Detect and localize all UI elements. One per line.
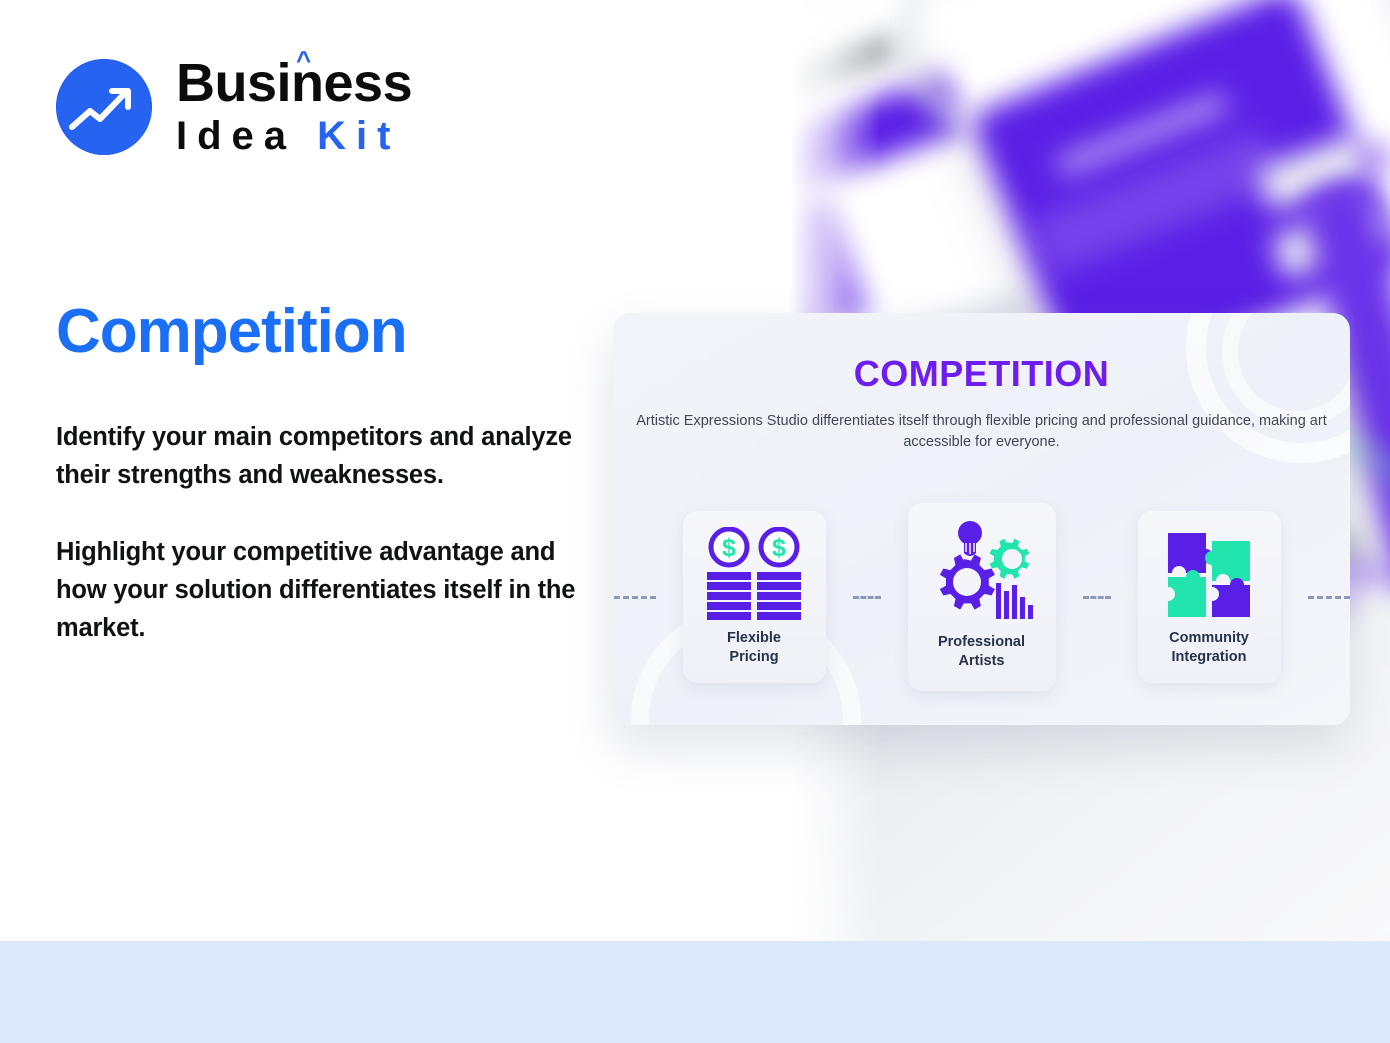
svg-text:$: $ xyxy=(722,534,736,562)
body-copy: Identify your main competitors and analy… xyxy=(56,418,576,647)
brand-name-line2: Idea Kit xyxy=(176,114,412,158)
tile-label-line1: Community xyxy=(1169,630,1249,646)
feature-tile-label: Flexible Pricing xyxy=(727,629,781,667)
preview-subtitle: Artistic Expressions Studio differentiat… xyxy=(613,411,1350,453)
bottom-color-band xyxy=(0,941,1390,1043)
photo-dot-one xyxy=(1365,145,1390,171)
tile-label-line2: Integration xyxy=(1172,649,1247,665)
brand-kit-text: Kit xyxy=(317,114,400,158)
brand-name-text: Business xyxy=(176,53,412,113)
brand-idea-text: Idea xyxy=(176,114,317,158)
gears-lightbulb-chart-icon xyxy=(926,517,1038,629)
feature-tile-label: Community Integration xyxy=(1169,629,1249,667)
connector-dash-left xyxy=(613,596,656,599)
brand-wordmark: Business ^ Idea Kit xyxy=(176,56,412,158)
tile-label-line1: Flexible xyxy=(727,630,781,646)
connector-dash-right xyxy=(1308,596,1351,599)
connector-dash-mid-left xyxy=(853,596,881,599)
tile-label-line2: Pricing xyxy=(729,649,778,665)
competition-preview-card: COMPETITION Artistic Expressions Studio … xyxy=(613,313,1350,725)
connector-dash-mid-right xyxy=(1083,596,1111,599)
tile-label-line2: Artists xyxy=(959,653,1005,669)
body-paragraph-1: Identify your main competitors and analy… xyxy=(56,418,576,495)
feature-tile-community-integration[interactable]: Community Integration xyxy=(1138,511,1281,683)
brand-logo: Business ^ Idea Kit xyxy=(56,56,412,158)
preview-title: COMPETITION xyxy=(613,353,1350,395)
feature-tile-row: $ $ xyxy=(613,503,1350,691)
tile-label-line1: Professional xyxy=(938,634,1025,650)
svg-text:$: $ xyxy=(772,534,786,562)
feature-tile-label: Professional Artists xyxy=(938,633,1025,671)
brand-name-line1: Business ^ xyxy=(176,56,412,110)
growth-chart-circle-icon xyxy=(56,59,152,155)
feature-tile-professional-artists[interactable]: Professional Artists xyxy=(908,503,1056,691)
page-title: Competition xyxy=(56,296,407,367)
slide-page: Business ^ Idea Kit Competition Identify… xyxy=(0,0,1390,1043)
brand-accent-caret: ^ xyxy=(296,47,311,73)
body-paragraph-2: Highlight your competitive advantage and… xyxy=(56,533,576,648)
coin-stacks-icon: $ $ xyxy=(702,525,806,625)
puzzle-pieces-icon xyxy=(1162,525,1256,625)
feature-tile-flexible-pricing[interactable]: $ $ xyxy=(683,511,826,683)
